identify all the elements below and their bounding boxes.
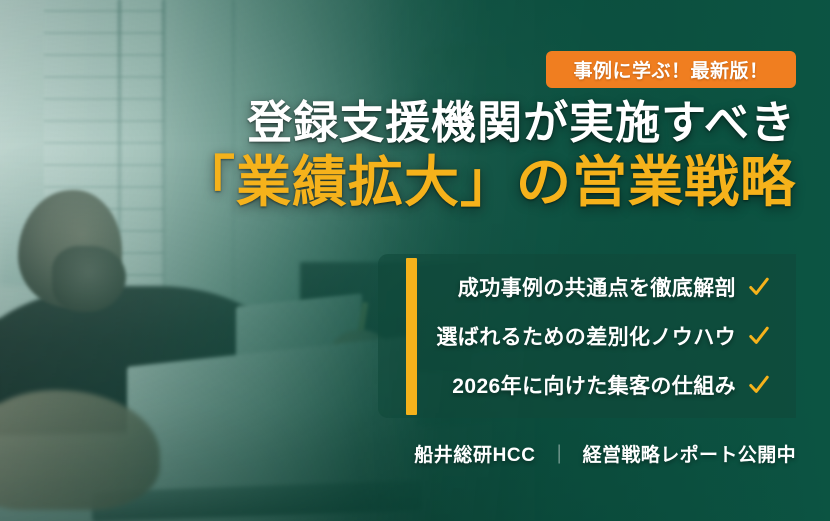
check-icon — [748, 276, 770, 298]
feature-list: 成功事例の共通点を徹底解剖 選ばれるための差別化ノウハウ 2026年に向けた集客… — [392, 262, 770, 410]
promo-badge-label: 事例に学ぶ！最新版！ — [573, 56, 768, 83]
promotional-banner: 事例に学ぶ！最新版！ 登録支援機関が実施すべき 「業績拡大」の営業戦略 成功事例… — [0, 0, 830, 521]
footer-tagline: 経営戦略レポート公開中 — [583, 440, 796, 467]
headline-line-1: 登録支援機関が実施すべき — [180, 100, 796, 145]
list-item-label: 2026年に向けた集客の仕組み — [452, 370, 736, 400]
headline: 登録支援機関が実施すべき 「業績拡大」の営業戦略 — [180, 100, 796, 210]
promo-badge: 事例に学ぶ！最新版！ — [546, 51, 796, 88]
list-item-label: 成功事例の共通点を徹底解剖 — [458, 272, 736, 302]
footer: 船井総研HCC ｜ 経営戦略レポート公開中 — [414, 440, 796, 467]
brand-name: 船井総研HCC — [414, 440, 535, 467]
banner-content: 事例に学ぶ！最新版！ 登録支援機関が実施すべき 「業績拡大」の営業戦略 成功事例… — [0, 0, 830, 521]
headline-line-2: 「業績拡大」の営業戦略 — [180, 155, 796, 210]
footer-separator: ｜ — [550, 440, 569, 467]
check-icon — [748, 325, 770, 347]
list-item: 2026年に向けた集客の仕組み — [392, 370, 770, 400]
list-item: 選ばれるための差別化ノウハウ — [392, 321, 770, 351]
list-item: 成功事例の共通点を徹底解剖 — [392, 272, 770, 302]
check-icon — [748, 374, 770, 396]
list-item-label: 選ばれるための差別化ノウハウ — [436, 321, 736, 351]
